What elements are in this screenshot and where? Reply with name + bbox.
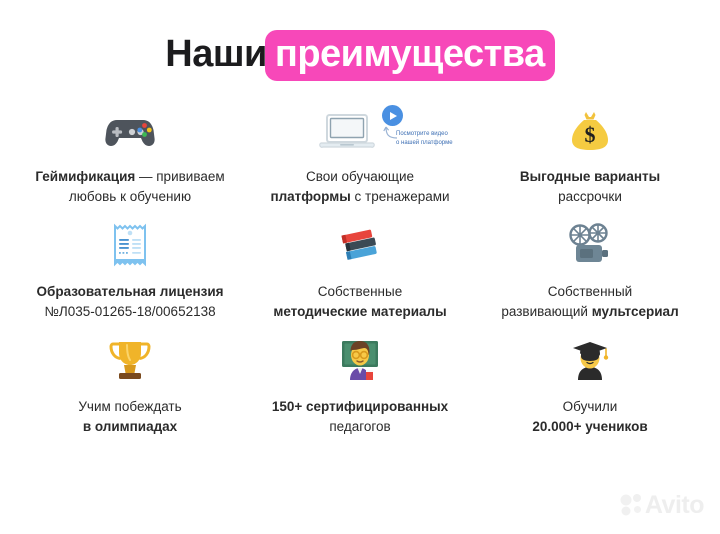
caption-line1: Учим побеждать xyxy=(78,399,181,414)
caption-bold: Геймификация xyxy=(35,169,135,184)
feature-card-license: Образовательная лицензия №Л035-01265-18/… xyxy=(15,218,245,333)
feature-card-gamification: Геймификация — прививаем любовь к обучен… xyxy=(15,103,245,218)
caption-bold: в олимпиадах xyxy=(83,419,177,434)
avito-watermark: Avito xyxy=(619,492,704,518)
graduate-icon xyxy=(475,333,705,389)
caption-line1: Собственный xyxy=(548,284,632,299)
feature-caption: Образовательная лицензия №Л035-01265-18/… xyxy=(36,282,223,321)
avito-logo-icon xyxy=(619,492,645,518)
caption-line1: Свои обучающие xyxy=(306,169,414,184)
feature-card-installments: $ Выгодные варианты рассрочки xyxy=(475,103,705,218)
svg-text:$: $ xyxy=(585,122,596,147)
page-title-plain: Наши xyxy=(165,33,267,75)
caption-bold: 150+ сертифицированных xyxy=(272,399,448,414)
video-note-line1: Посмотрите видео xyxy=(396,130,453,139)
caption-bold: платформы xyxy=(270,189,350,204)
caption-bold: методические материалы xyxy=(273,304,446,319)
video-annotation[interactable]: Посмотрите видео о нашей платформе xyxy=(382,105,403,126)
feature-card-platforms: Посмотрите видео о нашей платформе Свои … xyxy=(245,103,475,218)
page-title-highlight: преимущества xyxy=(265,30,555,81)
caption-line2: любовь к обучению xyxy=(35,187,224,207)
caption-rest: — прививаем xyxy=(135,169,224,184)
feature-caption: Обучили 20.000+ учеников xyxy=(532,397,647,436)
caption-line2: педагогов xyxy=(272,417,448,437)
feature-caption: Выгодные варианты рассрочки xyxy=(520,167,660,206)
feature-card-graduates: Обучили 20.000+ учеников xyxy=(475,333,705,448)
feature-card-teachers: 150+ сертифицированных педагогов xyxy=(245,333,475,448)
feature-card-olympiads: Учим побеждать в олимпиадах xyxy=(15,333,245,448)
caption-bold: Выгодные варианты xyxy=(520,169,660,184)
video-note-line2: о нашей платформе xyxy=(396,139,453,148)
caption-line1: Обучили xyxy=(563,399,618,414)
video-note-text: Посмотрите видео о нашей платформе xyxy=(396,130,453,148)
caption-bold: мультсериал xyxy=(592,304,679,319)
play-button-icon[interactable] xyxy=(382,105,403,126)
caption-line2: рассрочки xyxy=(520,187,660,207)
books-icon xyxy=(245,218,475,274)
features-grid: Геймификация — прививаем любовь к обучен… xyxy=(15,103,705,448)
gamepad-icon xyxy=(15,103,245,159)
laptop-icon: Посмотрите видео о нашей платформе xyxy=(245,103,475,159)
caption-rest: развивающий xyxy=(501,304,591,319)
avito-watermark-label: Avito xyxy=(645,493,704,518)
receipt-icon xyxy=(15,218,245,274)
feature-caption: Собственный развивающий мультсериал xyxy=(501,282,678,321)
caption-bold: 20.000+ учеников xyxy=(532,419,647,434)
trophy-icon xyxy=(15,333,245,389)
feature-card-cartoon-series: Собственный развивающий мультсериал xyxy=(475,218,705,333)
feature-caption: Собственные методические материалы xyxy=(273,282,446,321)
page-header: Нашипреимущества xyxy=(0,0,720,81)
money-bag-icon: $ xyxy=(475,103,705,159)
caption-rest: с тренажерами xyxy=(351,189,450,204)
caption-bold: Образовательная лицензия xyxy=(36,284,223,299)
feature-caption: Геймификация — прививаем любовь к обучен… xyxy=(35,167,224,206)
film-projector-icon xyxy=(475,218,705,274)
caption-line1: Собственные xyxy=(318,284,402,299)
feature-caption: Свои обучающие платформы с тренажерами xyxy=(270,167,449,206)
feature-caption: Учим побеждать в олимпиадах xyxy=(78,397,181,436)
feature-card-methodology: Собственные методические материалы xyxy=(245,218,475,333)
caption-line2: №Л035-01265-18/00652138 xyxy=(36,302,223,322)
teacher-icon xyxy=(245,333,475,389)
feature-caption: 150+ сертифицированных педагогов xyxy=(272,397,448,436)
page-title: Нашипреимущества xyxy=(165,30,554,81)
